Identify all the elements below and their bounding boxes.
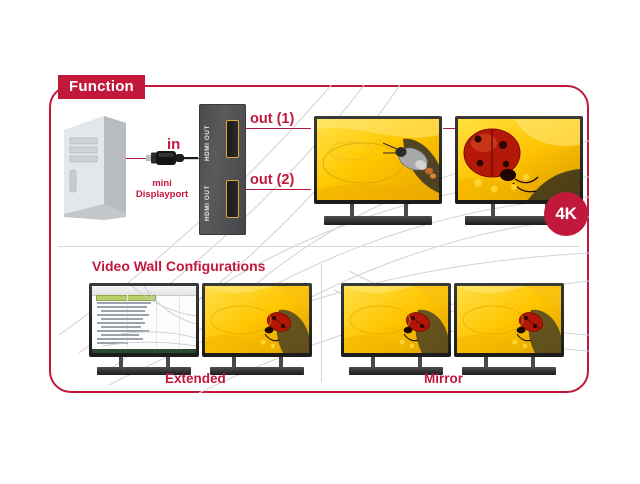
monitor-mirror-right-artwork: [457, 286, 561, 353]
section-divider-vertical: [321, 264, 322, 382]
section-badge-function: Function: [58, 75, 145, 99]
monitor-extended-right-artwork: [205, 286, 309, 353]
output-label-1: out (1): [250, 111, 294, 127]
hdmi-out-port-1-label: HDMI OUT: [204, 115, 211, 161]
hdmi-out-port-2: [226, 180, 239, 218]
mdp-label-line2: Displayport: [136, 189, 188, 200]
cable-out2: [239, 189, 311, 190]
monitor-mirror-left: [341, 283, 451, 378]
spreadsheet-window: [92, 286, 196, 353]
monitor-mirror-left-artwork: [344, 286, 448, 353]
spreadsheet-taskbar: [92, 349, 196, 353]
monitor-mirror-right: [454, 283, 564, 378]
video-wall-heading: Video Wall Configurations: [92, 258, 265, 274]
hdmi-splitter-box: HDMI OUT HDMI OUT: [199, 104, 246, 235]
hdmi-out-port-1: [226, 120, 239, 158]
monitor-out-1-artwork: [317, 119, 439, 200]
desktop-pc-tower: [64, 116, 126, 220]
monitor-out-1: [314, 116, 442, 228]
output-label-2: out (2): [250, 172, 294, 188]
spreadsheet-chart-curves: [92, 286, 196, 353]
cable-out1: [239, 128, 311, 129]
caption-extended: Extended: [165, 371, 226, 386]
caption-mirror: Mirror: [424, 371, 463, 386]
section-divider-horizontal: [58, 246, 580, 247]
badge-4k: 4K: [544, 192, 588, 236]
mini-displayport-label: mini Displayport: [124, 178, 200, 200]
mdp-label-line1: mini: [152, 178, 172, 189]
monitor-extended-right: [202, 283, 312, 378]
hdmi-out-port-2-label: HDMI OUT: [204, 175, 211, 221]
cable-pc-to-plug: [126, 158, 148, 159]
diagram-canvas: Function in mini: [0, 0, 640, 484]
monitor-extended-left: [89, 283, 199, 378]
monitor-out-2-artwork: [458, 119, 580, 200]
input-label-in: in: [167, 136, 180, 153]
